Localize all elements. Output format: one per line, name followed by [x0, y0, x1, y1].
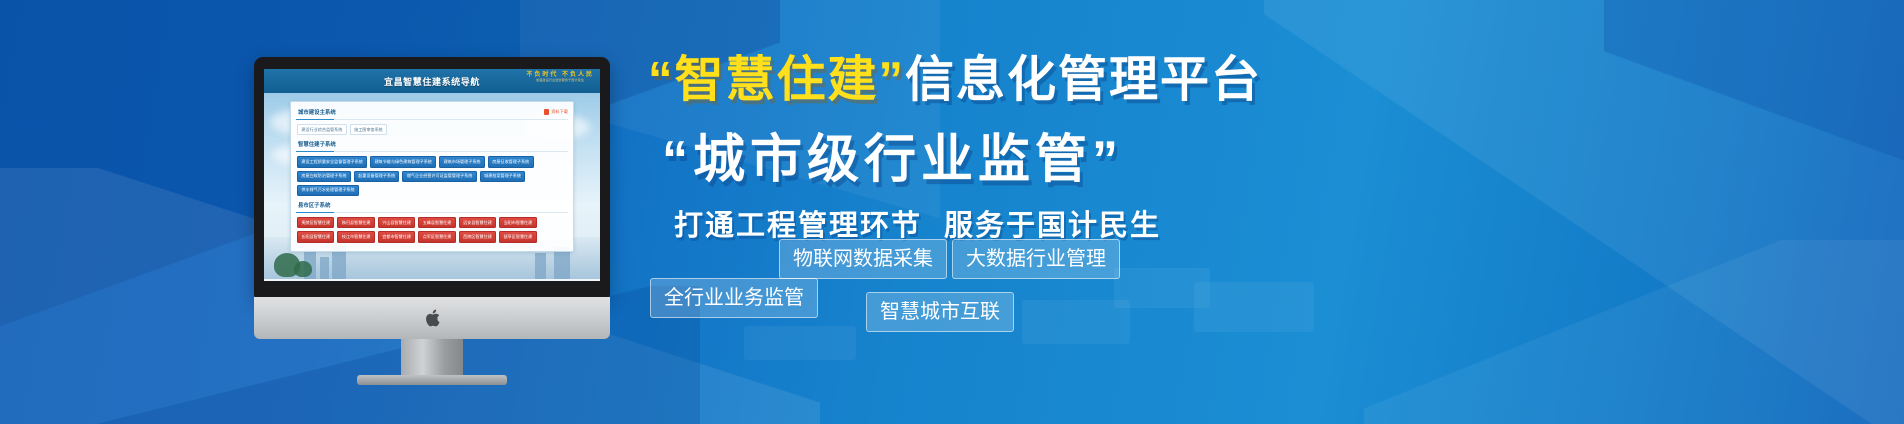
section-header-smart-sub: 智慧住建子系统 [296, 138, 568, 152]
section-items-smart-sub: 建设工程质量安全监督管理子系统 建筑节能与绿色建筑管理子系统 建筑市场管理子系统… [296, 152, 568, 199]
headline-line-3: 打通工程管理环节服务于国计民生 [648, 202, 1828, 244]
background-facet-6 [1364, 240, 1904, 424]
nav-item[interactable]: 房屋征收管理子系统 [488, 156, 534, 167]
monitor-screen: 宜昌智慧住建系统导航 不负时代 不负人民 加强建设行业监管服务于国计民生 [264, 69, 600, 281]
monitor-stand-foot [357, 375, 507, 385]
site-logo: 不负时代 不负人民 加强建设行业监管服务于国计民生 [526, 72, 594, 82]
headline-line-3-left: 打通工程管理环节 [674, 210, 922, 242]
nav-item[interactable]: 枝江市智慧住建 [337, 231, 374, 242]
background-glow-1 [1022, 300, 1130, 344]
nav-item[interactable]: 建设工程质量安全监督管理子系统 [297, 156, 367, 167]
nav-item[interactable]: 五峰县智慧住建 [418, 217, 455, 228]
tree-decor-2 [294, 261, 312, 277]
feature-tag-allindustry[interactable]: 全行业业务监管 [650, 278, 818, 318]
section-items-city-main: 建设行业综合监管系统 施工图审查系统 [296, 120, 568, 138]
headline-line-3-right: 服务于国计民生 [944, 210, 1161, 242]
download-link[interactable]: 资料下载 [544, 109, 568, 115]
nav-item[interactable]: 房屋白蚁防治管理子系统 [297, 171, 351, 182]
download-label: 资料下载 [551, 109, 568, 115]
nav-item[interactable]: 供水排气污水处理管理子系统 [297, 185, 359, 196]
site-hero: 城市建设主系统 资料下载 建设行业综合监管系统 施工图审查系统 [264, 93, 600, 279]
monitor-bezel: 宜昌智慧住建系统导航 不负时代 不负人民 加强建设行业监管服务于国计民生 [254, 57, 610, 297]
nav-item[interactable]: 当阳市智慧住建 [499, 217, 536, 228]
nav-item[interactable]: 猇亭区智慧住建 [499, 231, 536, 242]
nav-item[interactable]: 西陵区智慧住建 [459, 231, 496, 242]
building-decor-2 [320, 257, 329, 279]
site-header: 宜昌智慧住建系统导航 不负时代 不负人民 加强建设行业监管服务于国计民生 [264, 69, 600, 93]
feature-tag-iot[interactable]: 物联网数据采集 [779, 239, 947, 279]
imac-mockup: 宜昌智慧住建系统导航 不负时代 不负人民 加强建设行业监管服务于国计民生 [254, 57, 610, 355]
nav-item[interactable]: 城建档案管理子系统 [480, 171, 526, 182]
nav-item[interactable]: 夷陵区智慧住建 [297, 217, 334, 228]
section-title: 城市建设主系统 [298, 108, 336, 116]
nav-card: 城市建设主系统 资料下载 建设行业综合监管系统 施工图审查系统 [290, 101, 574, 252]
nav-item[interactable]: 点军区智慧住建 [418, 231, 455, 242]
nav-item[interactable]: 燃气企业经营许可证监管管理子系统 [402, 171, 476, 182]
site-title: 宜昌智慧住建系统导航 [384, 75, 480, 88]
background-glow-4 [744, 326, 856, 360]
building-decor-5 [554, 247, 570, 279]
nav-item[interactable]: 起重设备管理子系统 [354, 171, 400, 182]
section-header-city-main: 城市建设主系统 资料下载 [296, 106, 568, 120]
site-logo-line2: 加强建设行业监管服务于国计民生 [526, 79, 594, 82]
feature-tag-bigdata[interactable]: 大数据行业管理 [952, 239, 1120, 279]
headline-line-1-rest: 信息化管理平台 [905, 53, 1262, 107]
apple-logo-icon [424, 308, 441, 328]
promo-banner: 宜昌智慧住建系统导航 不负时代 不负人民 加强建设行业监管服务于国计民生 [0, 0, 1904, 424]
download-icon [544, 109, 549, 115]
nav-item[interactable]: 建筑节能与绿色建筑管理子系统 [370, 156, 436, 167]
headline-line-2: “城市级行业监管” [648, 117, 1828, 192]
nav-item[interactable]: 施工图审查系统 [350, 124, 387, 135]
nav-item[interactable]: 建筑市场管理子系统 [439, 156, 485, 167]
section-items-county-sub: 夷陵区智慧住建 秭归县智慧住建 兴山县智慧住建 五峰县智慧住建 远安县智慧住建 … [296, 213, 568, 246]
nav-item[interactable]: 秭归县智慧住建 [337, 217, 374, 228]
section-title: 智慧住建子系统 [298, 140, 336, 148]
nav-item[interactable]: 远安县智慧住建 [459, 217, 496, 228]
headline-block: “智慧住建”信息化管理平台 “城市级行业监管” 打通工程管理环节服务于国计民生 [648, 40, 1828, 244]
background-glow-3 [1194, 282, 1314, 332]
section-header-county-sub: 县市区子系统 [296, 199, 568, 213]
nav-item[interactable]: 宜都市智慧住建 [378, 231, 415, 242]
section-title: 县市区子系统 [298, 201, 330, 209]
nav-item[interactable]: 长阳县智慧住建 [297, 231, 334, 242]
feature-tag-smartcity[interactable]: 智慧城市互联 [866, 292, 1014, 332]
nav-item[interactable]: 兴山县智慧住建 [378, 217, 415, 228]
building-decor-4 [535, 253, 546, 279]
background-glow-2 [1114, 268, 1210, 308]
nav-item[interactable]: 建设行业综合监管系统 [297, 124, 347, 135]
headline-line-1: “智慧住建”信息化管理平台 [648, 40, 1828, 111]
headline-highlight: “智慧住建” [648, 53, 905, 107]
monitor-chin [254, 297, 610, 339]
